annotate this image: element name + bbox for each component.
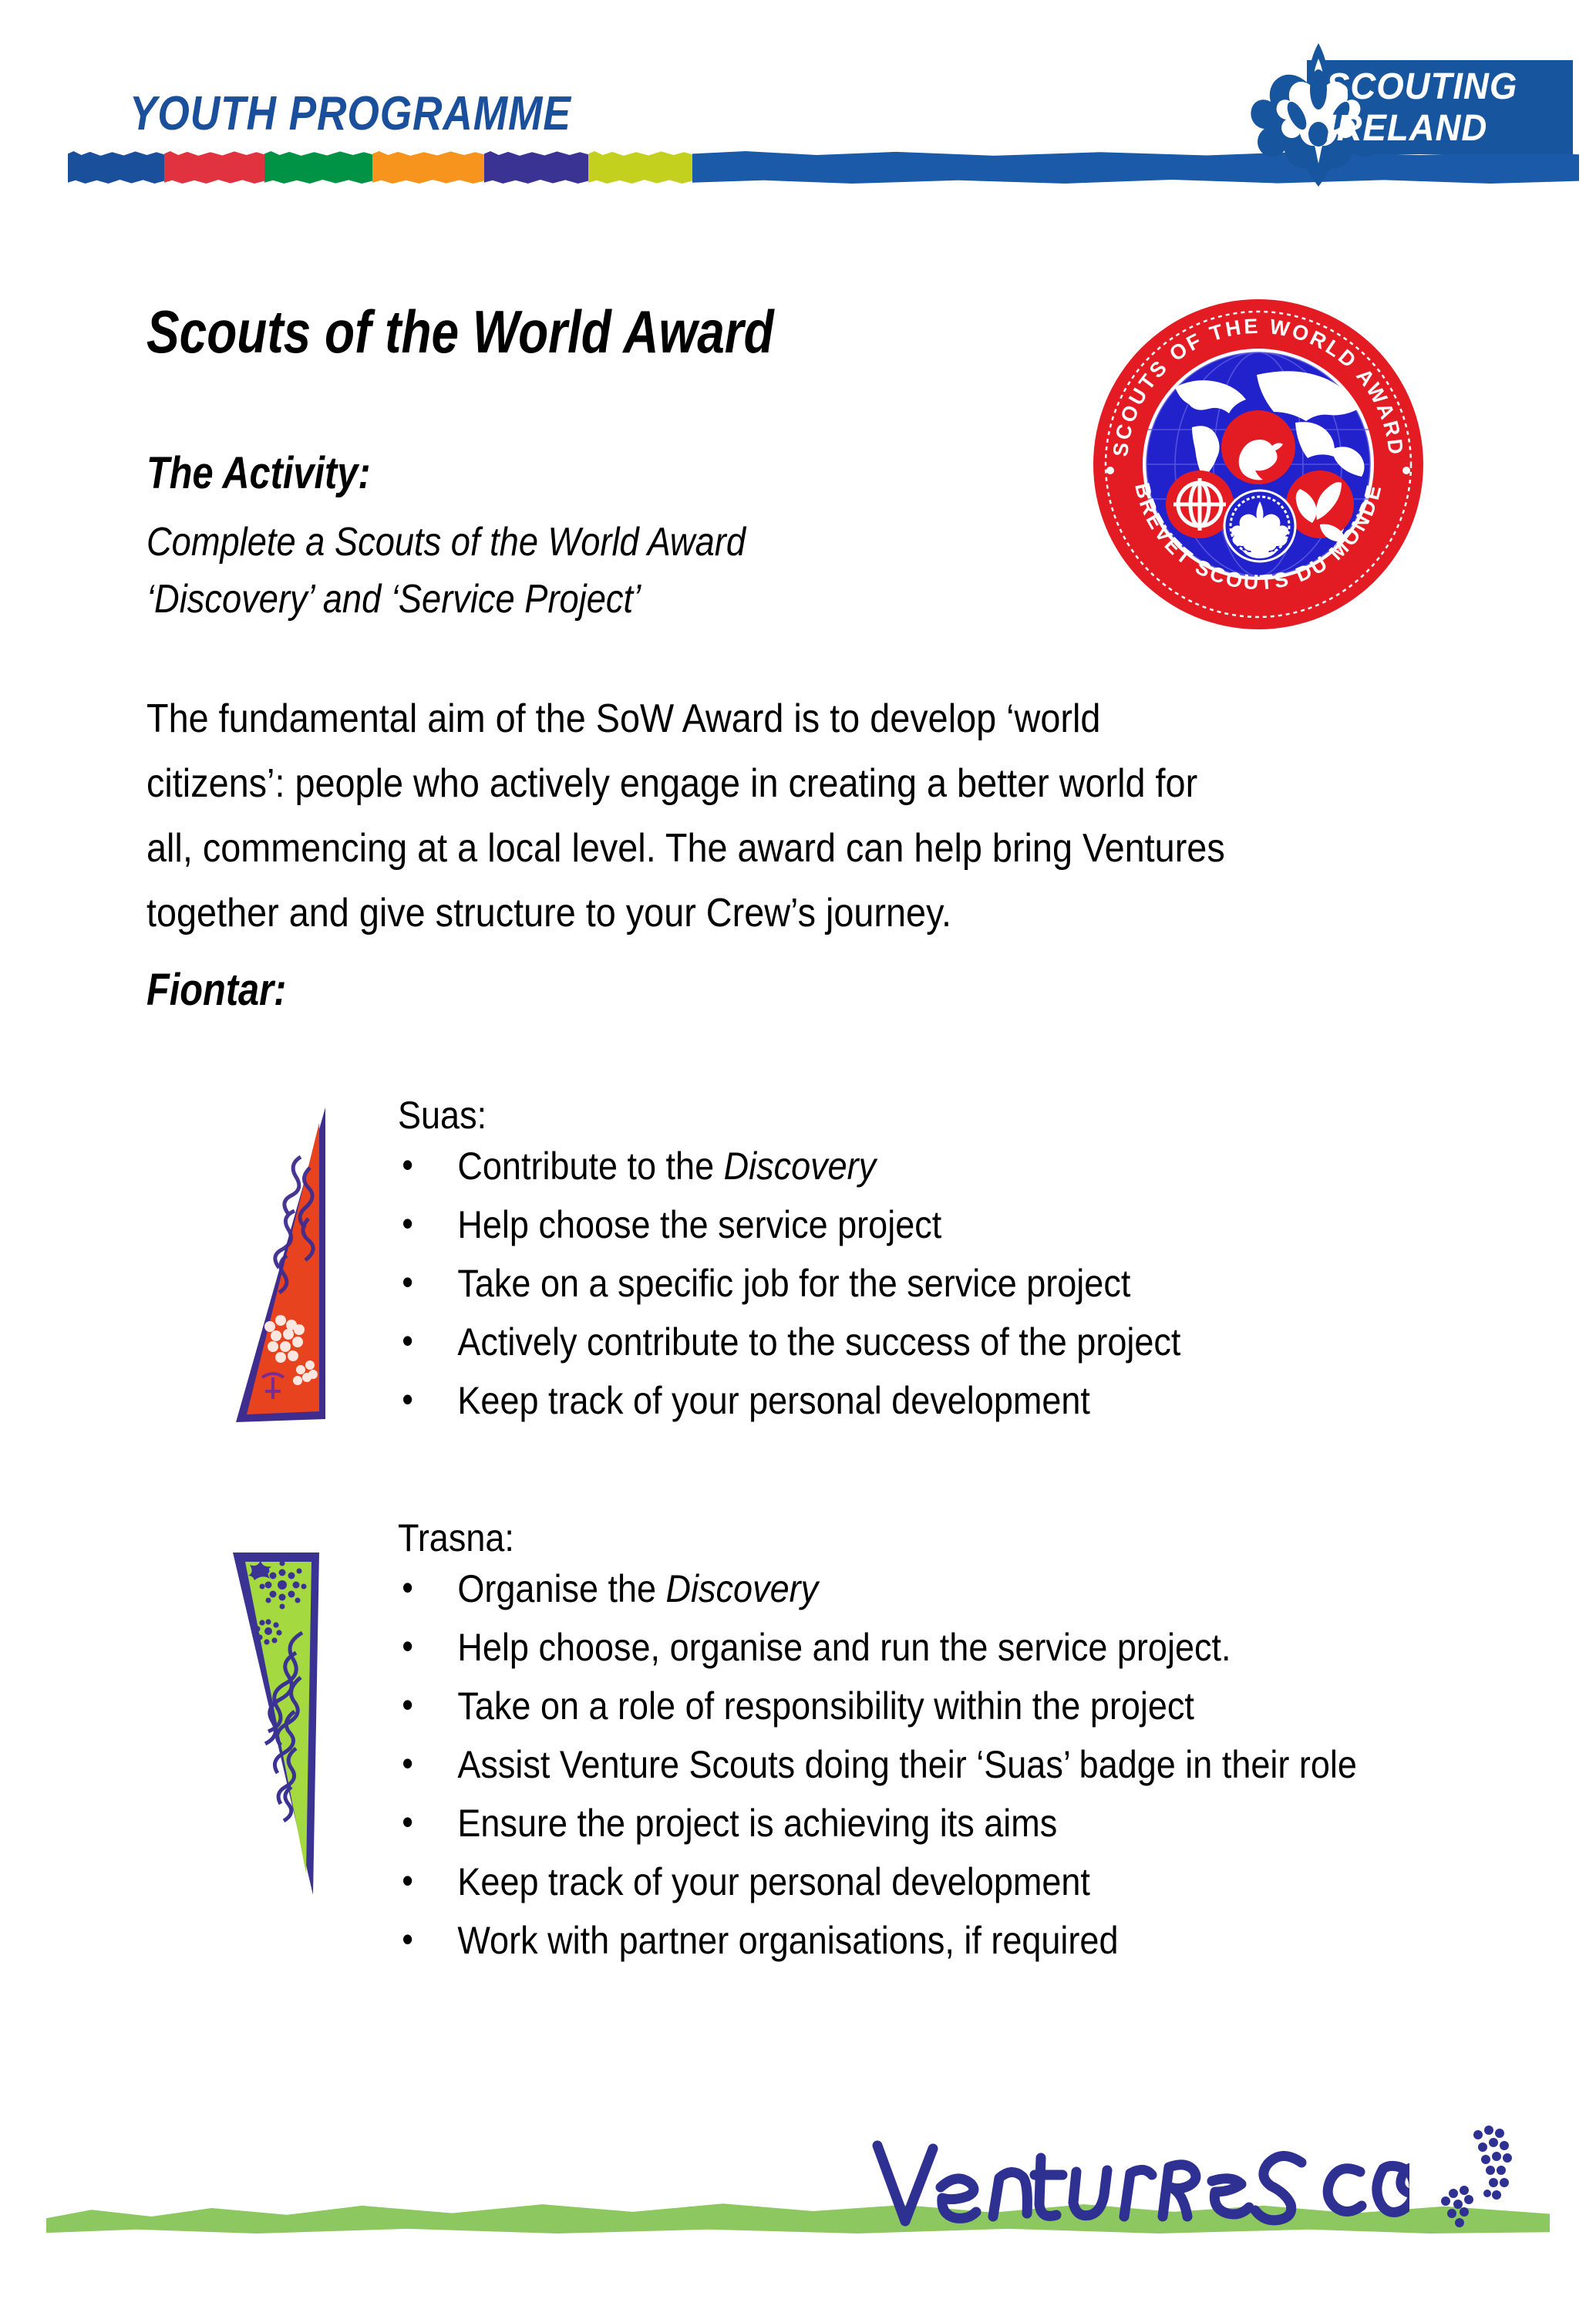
list-item-text: Take on a role of responsibility within … (457, 1684, 1194, 1728)
colour-segment-1 (164, 151, 264, 184)
list-item: Work with partner organisations, if requ… (398, 1911, 1540, 1970)
list-item-text: Contribute to the (457, 1145, 723, 1188)
suas-pennant-icon (230, 1103, 332, 1425)
trasna-list: Organise the DiscoveryHelp choose, organ… (398, 1559, 1596, 1970)
list-item: Organise the Discovery (398, 1559, 1540, 1618)
youth-programme-title: YOUTH PROGRAMME (130, 86, 571, 141)
list-item-emphasis: Discovery (666, 1567, 819, 1610)
trasna-group: Trasna: Organise the DiscoveryHelp choos… (398, 1516, 1596, 1970)
list-item-text: Keep track of your personal development (457, 1860, 1089, 1903)
colour-segment-2 (264, 151, 372, 184)
suas-list: Contribute to the DiscoveryHelp choose t… (398, 1137, 1596, 1430)
activity-heading: The Activity: (146, 447, 371, 499)
list-item: Keep track of your personal development (398, 1853, 1540, 1911)
list-item: Take on a role of responsibility within … (398, 1677, 1540, 1735)
activity-line-1: Complete a Scouts of the World Award (146, 514, 884, 571)
scouting-line: SCOUTING (1326, 66, 1561, 108)
page-title: Scouts of the World Award (146, 297, 774, 367)
colour-segment-0 (68, 151, 164, 184)
ireland-line: IRELAND (1326, 108, 1561, 150)
list-item-text: Keep track of your personal development (457, 1379, 1089, 1422)
scouting-ireland-label: SCOUTING IRELAND (1326, 66, 1561, 150)
list-item: Keep track of your personal development (398, 1371, 1540, 1430)
list-item: Actively contribute to the success of th… (398, 1313, 1540, 1371)
colour-segment-5 (588, 151, 692, 184)
page-footer (0, 2129, 1596, 2306)
intro-line-3: all, commencing at a local level. The aw… (146, 816, 1382, 881)
list-item-text: Work with partner organisations, if requ… (457, 1919, 1118, 1962)
list-item-text: Take on a specific job for the service p… (457, 1262, 1130, 1305)
fiontar-heading: Fiontar: (146, 964, 286, 1016)
intro-line-2: citizens’: people who actively engage in… (146, 751, 1382, 816)
activity-description: Complete a Scouts of the World Award ‘Di… (146, 514, 884, 628)
colour-segment-3 (372, 151, 484, 184)
list-item: Help choose, organise and run the servic… (398, 1618, 1540, 1677)
scouts-of-the-world-award-badge: ® SCOUTS OF THE WORLD AWARD BREVET SCOUT… (1089, 295, 1428, 634)
venture-flower-icon (1423, 2119, 1523, 2243)
list-item-text: Organise the (457, 1567, 665, 1610)
list-item: Assist Venture Scouts doing their ‘Suas’… (398, 1735, 1540, 1794)
intro-line-4: together and give structure to your Crew… (146, 881, 1382, 946)
intro-paragraph: The fundamental aim of the SoW Award is … (146, 686, 1382, 946)
colour-segment-4 (484, 151, 588, 184)
list-item-text: Actively contribute to the success of th… (457, 1320, 1180, 1364)
list-item: Ensure the project is achieving its aims (398, 1794, 1540, 1853)
trasna-pennant-icon (231, 1546, 325, 1901)
list-item-text: Help choose, organise and run the servic… (457, 1626, 1231, 1669)
intro-line-1: The fundamental aim of the SoW Award is … (146, 686, 1382, 751)
trasna-label: Trasna: (398, 1516, 1540, 1559)
list-item-text: Help choose the service project (457, 1203, 941, 1246)
list-item: Take on a specific job for the service p… (398, 1254, 1540, 1313)
list-item: Contribute to the Discovery (398, 1137, 1540, 1195)
activity-line-2: ‘Discovery’ and ‘Service Project’ (146, 571, 884, 628)
suas-label: Suas: (398, 1094, 1540, 1137)
scouting-ireland-logo: SCOUTING IRELAND (1187, 46, 1573, 170)
suas-group: Suas: Contribute to the DiscoveryHelp ch… (398, 1094, 1596, 1430)
list-item-text: Ensure the project is achieving its aims (457, 1802, 1057, 1845)
list-item-text: Assist Venture Scouts doing their ‘Suas’… (457, 1743, 1357, 1786)
list-item-emphasis: Discovery (724, 1145, 877, 1188)
list-item: Help choose the service project (398, 1195, 1540, 1254)
page-header: YOUTH PROGRAMME SCOUTING IRELAND (0, 0, 1596, 208)
venturescouts-wordmark (870, 2136, 1409, 2237)
